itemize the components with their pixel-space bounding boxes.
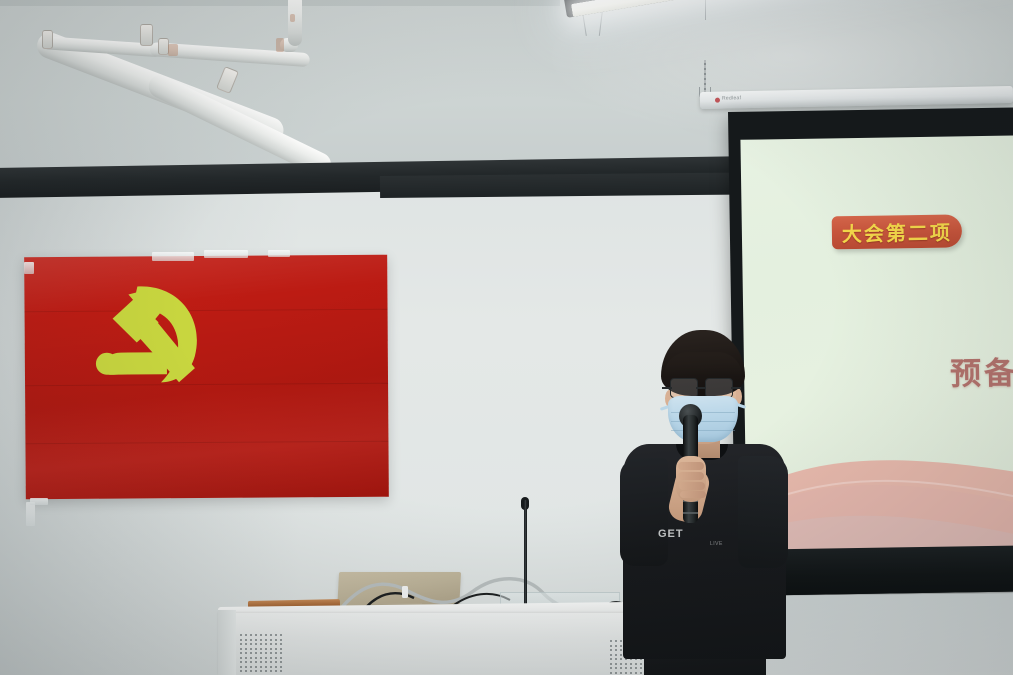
- grille-dot: [255, 670, 257, 672]
- grille-dot: [260, 634, 262, 636]
- grille-dot: [270, 652, 272, 654]
- grille-dot: [280, 639, 282, 641]
- grille-dot: [250, 661, 252, 663]
- grille-dot: [610, 663, 612, 665]
- hammer-and-sickle-icon: [82, 276, 213, 397]
- grille-dot: [250, 643, 252, 645]
- grille-dot: [260, 648, 262, 650]
- grille-dot: [265, 661, 267, 663]
- grille-dot: [240, 670, 242, 672]
- grille-dot: [280, 666, 282, 668]
- grille-dot: [245, 652, 247, 654]
- slide-heading-text: 预备党: [950, 347, 1013, 394]
- grille-dot: [275, 652, 277, 654]
- grille-dot: [265, 652, 267, 654]
- grille-dot: [275, 634, 277, 636]
- grille-dot: [610, 667, 612, 669]
- speaker-grille-left: [240, 634, 284, 674]
- grille-dot: [245, 648, 247, 650]
- presenter: GET LIVE: [614, 330, 794, 675]
- grille-dot: [270, 657, 272, 659]
- grille-dot: [280, 643, 282, 645]
- grille-dot: [610, 649, 612, 651]
- presenter-hair-fringe: [664, 352, 742, 376]
- grille-dot: [610, 672, 612, 674]
- grille-dot: [265, 670, 267, 672]
- grille-dot: [240, 648, 242, 650]
- shirt-graphic-subtext: LIVE: [710, 541, 723, 547]
- grille-dot: [280, 661, 282, 663]
- grille-dot: [280, 657, 282, 659]
- grille-dot: [265, 666, 267, 668]
- photo-scene: Redleaf 大会第二项 预备党: [0, 0, 1013, 675]
- grille-dot: [275, 639, 277, 641]
- slide-badge-text: 大会第二项: [842, 216, 952, 247]
- grille-dot: [265, 643, 267, 645]
- grille-dot: [245, 670, 247, 672]
- grille-dot: [280, 648, 282, 650]
- grille-dot: [260, 661, 262, 663]
- grille-dot: [270, 670, 272, 672]
- grille-dot: [245, 643, 247, 645]
- grille-dot: [255, 652, 257, 654]
- grille-dot: [265, 657, 267, 659]
- podium-left-side: [218, 610, 236, 675]
- grille-dot: [270, 634, 272, 636]
- grille-dot: [255, 657, 257, 659]
- grille-dot: [255, 666, 257, 668]
- grille-dot: [255, 648, 257, 650]
- grille-dot: [265, 639, 267, 641]
- grille-dot: [240, 634, 242, 636]
- grille-dot: [270, 661, 272, 663]
- screen-brand-mark: [715, 98, 720, 103]
- grille-dot: [260, 639, 262, 641]
- grille-dot: [260, 657, 262, 659]
- grille-dot: [240, 652, 242, 654]
- grille-dot: [260, 652, 262, 654]
- presenter-sleeve-right: [738, 456, 788, 568]
- grille-dot: [275, 661, 277, 663]
- grille-dot: [250, 634, 252, 636]
- grille-dot: [250, 666, 252, 668]
- presenter-sleeve-left: [620, 458, 668, 566]
- grille-dot: [255, 634, 257, 636]
- grille-dot: [255, 661, 257, 663]
- grille-dot: [255, 643, 257, 645]
- grille-dot: [265, 634, 267, 636]
- grille-dot: [250, 639, 252, 641]
- grille-dot: [240, 643, 242, 645]
- grille-dot: [275, 648, 277, 650]
- grille-dot: [610, 658, 612, 660]
- grille-dot: [260, 666, 262, 668]
- grille-dot: [245, 661, 247, 663]
- grille-dot: [260, 643, 262, 645]
- presenter-hand: [676, 456, 706, 502]
- grille-dot: [250, 670, 252, 672]
- grille-dot: [270, 643, 272, 645]
- grille-dot: [610, 654, 612, 656]
- grille-dot: [245, 666, 247, 668]
- grille-dot: [250, 657, 252, 659]
- grille-dot: [270, 648, 272, 650]
- shirt-graphic-text: GET: [658, 528, 750, 540]
- slide-badge: 大会第二项: [832, 214, 963, 249]
- handheld-mic-ring-b: [683, 512, 698, 514]
- grille-dot: [610, 640, 612, 642]
- party-flag: [24, 255, 389, 500]
- grille-dot: [240, 657, 242, 659]
- grille-dot: [280, 634, 282, 636]
- grille-dot: [260, 670, 262, 672]
- grille-dot: [245, 639, 247, 641]
- screen-brand-label: Redleaf: [722, 95, 741, 101]
- podium-front-panel: [218, 613, 668, 675]
- grille-dot: [265, 648, 267, 650]
- grille-dot: [280, 670, 282, 672]
- grille-dot: [280, 652, 282, 654]
- grille-dot: [255, 639, 257, 641]
- grille-dot: [250, 648, 252, 650]
- grille-dot: [250, 652, 252, 654]
- grille-dot: [275, 643, 277, 645]
- grille-dot: [240, 639, 242, 641]
- grille-dot: [610, 645, 612, 647]
- grille-dot: [275, 657, 277, 659]
- ceiling-edge: [0, 0, 560, 6]
- grille-dot: [240, 666, 242, 668]
- grille-dot: [270, 639, 272, 641]
- grille-dot: [245, 657, 247, 659]
- grille-dot: [275, 666, 277, 668]
- grille-dot: [275, 670, 277, 672]
- grille-dot: [270, 666, 272, 668]
- grille-dot: [240, 661, 242, 663]
- gooseneck-microphone: [524, 500, 527, 612]
- grille-dot: [245, 634, 247, 636]
